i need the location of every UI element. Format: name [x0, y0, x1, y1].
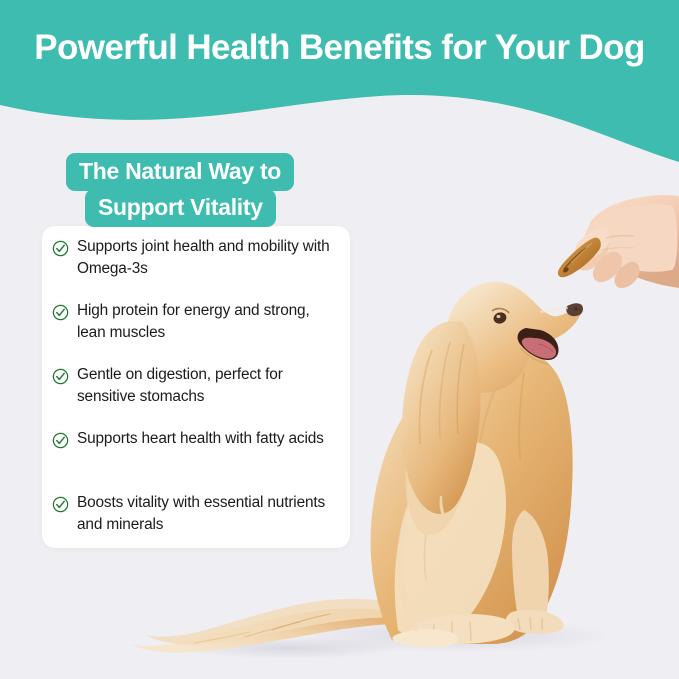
benefit-item: Supports heart health with fatty acids — [42, 428, 350, 478]
check-circle-icon — [52, 368, 69, 385]
check-circle-icon — [52, 496, 69, 513]
benefit-text: Gentle on digestion, perfect for sensiti… — [77, 364, 336, 407]
benefit-item: Boosts vitality with essential nutrients… — [42, 492, 350, 542]
benefit-text: Supports heart health with fatty acids — [77, 428, 324, 450]
badge-the-natural-way: The Natural Way to Support Vitality — [66, 153, 294, 227]
badge-line-2: Support Vitality — [85, 189, 276, 227]
page-title: Powerful Health Benefits for Your Dog — [0, 26, 679, 70]
benefit-item: High protein for energy and strong, lean… — [42, 300, 350, 350]
check-circle-icon — [52, 304, 69, 321]
check-circle-icon — [52, 240, 69, 257]
benefit-text: Boosts vitality with essential nutrients… — [77, 492, 336, 535]
benefit-item: Supports joint health and mobility with … — [42, 236, 350, 286]
badge-line-1: The Natural Way to — [66, 153, 294, 191]
infographic-stage: Powerful Health Benefits for Your Dog — [0, 0, 679, 679]
benefit-item: Gentle on digestion, perfect for sensiti… — [42, 364, 350, 414]
benefits-list: Supports joint health and mobility with … — [42, 236, 350, 542]
benefits-card: Supports joint health and mobility with … — [42, 226, 350, 548]
benefit-text: High protein for energy and strong, lean… — [77, 300, 336, 343]
check-circle-icon — [52, 432, 69, 449]
benefit-text: Supports joint health and mobility with … — [77, 236, 336, 279]
